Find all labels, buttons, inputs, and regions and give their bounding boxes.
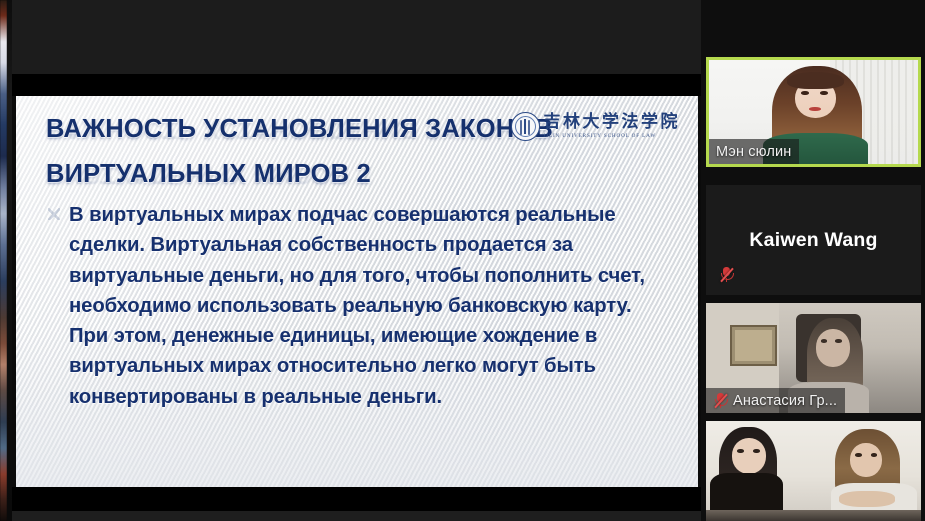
presentation-slide: 吉林大学法学院 JILIN UNIVERSITY SCHOOL OF LAW В…: [16, 96, 698, 487]
logo-english-name: JILIN UNIVERSITY SCHOOL OF LAW: [544, 134, 681, 139]
jilin-university-law-school-logo: 吉林大学法学院 JILIN UNIVERSITY SCHOOL OF LAW: [511, 112, 681, 141]
participant-tile-kaiwen-wang[interactable]: Kaiwen Wang: [706, 185, 921, 295]
participant-tile-room[interactable]: [706, 421, 921, 521]
bullet-marker-icon: [48, 208, 60, 220]
participant-name-text: Анастасия Гр...: [733, 393, 837, 409]
university-seal-icon: [511, 112, 540, 141]
participant-tile-men-syulin[interactable]: Мэн сюлин: [706, 57, 921, 167]
mic-muted-icon: [719, 266, 734, 283]
participant-video-feed: [706, 421, 921, 521]
participant-name-text: Kaiwen Wang: [749, 229, 877, 252]
share-letterbox-bottom: [12, 487, 701, 521]
participant-name-label: Анастасия Гр...: [706, 388, 845, 413]
video-edge-artifact: [0, 0, 7, 521]
slide-body-text: В виртуальных мирах подчас совершаются р…: [69, 200, 673, 412]
slide-title-line-2-reflection: ВИРТУАЛЬНЫХ МИРОВ 2: [46, 174, 664, 189]
video-conference-window: 吉林大学法学院 JILIN UNIVERSITY SCHOOL OF LAW В…: [0, 0, 925, 521]
participant-filmstrip[interactable]: Мэн сюлин Kaiwen Wang Анастасия: [701, 0, 925, 521]
mic-muted-icon: [713, 392, 728, 409]
participant-placeholder: Kaiwen Wang: [706, 185, 921, 295]
participant-name-text: Мэн сюлин: [716, 144, 791, 160]
share-letterbox-top: [12, 0, 701, 96]
participant-name-label: Мэн сюлин: [709, 139, 799, 164]
logo-chinese-name: 吉林大学法学院: [544, 114, 681, 131]
participant-tile-anastasia[interactable]: Анастасия Гр...: [706, 303, 921, 413]
logo-text-block: 吉林大学法学院 JILIN UNIVERSITY SCHOOL OF LAW: [544, 114, 681, 139]
slide-body: В виртуальных мирах подчас совершаются р…: [48, 200, 673, 412]
shared-screen-region[interactable]: 吉林大学法学院 JILIN UNIVERSITY SCHOOL OF LAW В…: [12, 0, 701, 521]
video-edge-letterbox: [7, 0, 12, 521]
